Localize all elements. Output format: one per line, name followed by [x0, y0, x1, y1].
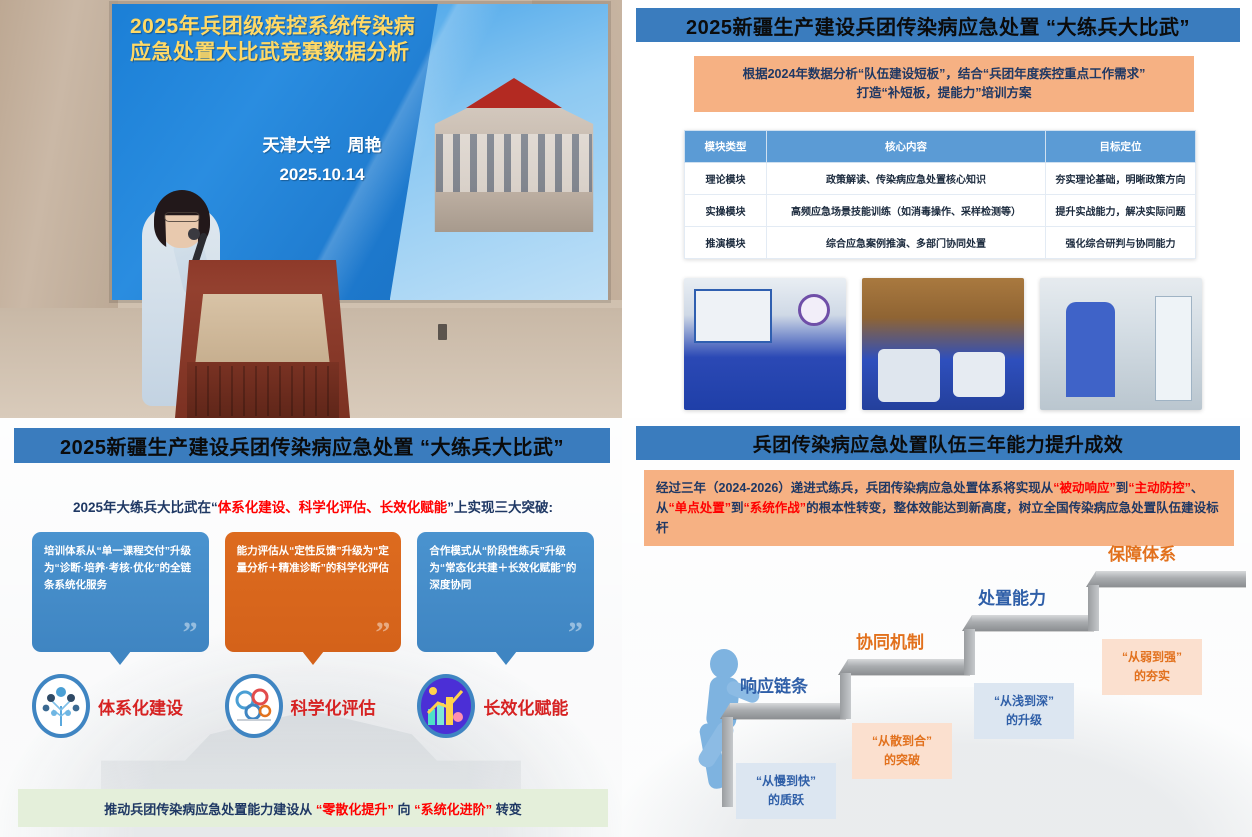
step-title-3: 处置能力	[978, 584, 1046, 609]
step-tag-line1: “从浅到深”	[984, 692, 1064, 711]
panel-three-year-outcomes: 兵团传染病应急处置队伍三年能力提升成效 经过三年（2024-2026）递进式练兵…	[622, 418, 1252, 837]
slide4-callout: 经过三年（2024-2026）递进式练兵，兵团传染病应急处置体系将实现从“被动响…	[644, 470, 1234, 546]
step-tag-1: “从慢到快” 的质跃	[736, 763, 836, 819]
step-riser-2	[840, 673, 851, 719]
table-row: 推演模块 综合应急案例推演、多部门协同处置 强化综合研判与协同能力	[685, 227, 1196, 259]
photo-written-exam	[862, 278, 1024, 410]
quote-mark-icon: ”	[183, 618, 198, 648]
table-cell: 实操模块	[685, 195, 767, 227]
table-cell: 推演模块	[685, 227, 767, 259]
step-tag-line2: 的升级	[984, 711, 1064, 730]
wall-socket	[438, 324, 447, 340]
slide3-footer-banner: 推动兵团传染病应急处置能力建设从 “零散化提升” 向 “系统化进阶” 转变	[18, 789, 608, 827]
table-cell: 夯实理论基础，明晰政策方向	[1046, 163, 1196, 195]
table-header-cell: 核心内容	[767, 131, 1046, 163]
training-modules-table: 模块类型 核心内容 目标定位 理论模块 政策解读、传染病应急处置核心知识 夯实理…	[684, 130, 1196, 259]
table-cell: 强化综合研判与协同能力	[1046, 227, 1196, 259]
step-title-4: 保障体系	[1108, 540, 1176, 565]
growth-chart-icon	[417, 674, 475, 738]
podium-slats	[195, 366, 331, 416]
card-pointer	[109, 651, 131, 665]
slide3-canvas: 2025新疆生产建设兵团传染病应急处置 “大练兵大比武” 2025年大练兵大比武…	[0, 418, 622, 837]
table-cell: 高频应急场景技能训练（如消毒操作、采样检测等）	[767, 195, 1046, 227]
slide3-banner-title: 2025新疆生产建设兵团传染病应急处置 “大练兵大比武”	[14, 428, 610, 463]
table-cell: 综合应急案例推演、多部门协同处置	[767, 227, 1046, 259]
gears-analysis-icon	[225, 674, 283, 738]
breakthrough-icon-row: 体系化建设 科学化评估	[32, 670, 594, 742]
step-riser-4	[1088, 585, 1099, 631]
breakthrough-icon-label: 长效化赋能	[483, 694, 568, 719]
walker-head	[710, 649, 738, 679]
quote-mark-icon: ”	[375, 618, 390, 648]
training-photo-strip	[684, 278, 1202, 410]
slide2-callout: 根据2024年数据分析“队伍建设短板”，结合“兵团年度疾控重点工作需求” 打造“…	[694, 56, 1194, 112]
step-tag-line1: “从慢到快”	[746, 772, 826, 791]
breakthrough-cards: 培训体系从“单一课程交付”升级为“诊断·培养·考核·优化”的全链条系统化服务 ”…	[32, 532, 594, 652]
slide2-canvas: 2025新疆生产建设兵团传染病应急处置 “大练兵大比武” 根据2024年数据分析…	[622, 0, 1252, 418]
panel-speaker-photo: 2025年兵团级疾控系统传染病 应急处置大比武竞赛数据分析 天津大学 周艳 20…	[0, 0, 622, 418]
table-header-cell: 模块类型	[685, 131, 767, 163]
step-tag-line2: 的质跃	[746, 791, 826, 810]
slide3-lead-text: 2025年大练兵大比武在“体系化建设、科学化评估、长效化赋能”上实现三大突破:	[24, 496, 602, 516]
step-tread-1	[730, 703, 846, 719]
table-header-row: 模块类型 核心内容 目标定位	[685, 131, 1196, 163]
slide4-canvas: 兵团传染病应急处置队伍三年能力提升成效 经过三年（2024-2026）递进式练兵…	[622, 418, 1252, 837]
podium-front-panel	[195, 294, 330, 366]
photo-lab-training	[1040, 278, 1202, 410]
step-riser-1	[722, 717, 733, 807]
step-tag-line1: “从散到合”	[862, 732, 942, 751]
table-cell: 提升实战能力，解决实际问题	[1046, 195, 1196, 227]
step-tag-line1: “从弱到强”	[1112, 648, 1192, 667]
screen-subtitle: 天津大学 周艳 2025.10.14	[182, 132, 462, 190]
card-pointer	[495, 651, 517, 665]
breakthrough-icon-item-1: 体系化建设	[32, 670, 209, 742]
step-tag-3: “从浅到深” 的升级	[974, 683, 1074, 739]
step-tag-4: “从弱到强” 的夯实	[1102, 639, 1202, 695]
slide2-banner-title: 2025新疆生产建设兵团传染病应急处置 “大练兵大比武”	[636, 8, 1240, 42]
card-pointer	[302, 651, 324, 665]
screen-affiliation: 天津大学 周艳	[182, 132, 462, 161]
card-text: 合作模式从“阶段性练兵”升级为“常态化共建＋长效化赋能”的深度协同	[429, 545, 576, 591]
speaker-glasses	[164, 212, 200, 222]
table-cell: 政策解读、传染病应急处置核心知识	[767, 163, 1046, 195]
slide4-banner-title: 兵团传染病应急处置队伍三年能力提升成效	[636, 426, 1240, 460]
screen-date: 2025.10.14	[182, 161, 462, 190]
step-tread-2	[848, 659, 970, 675]
table-header-cell: 目标定位	[1046, 131, 1196, 163]
breakthrough-icon-item-2: 科学化评估	[225, 670, 402, 742]
microphone-head	[188, 228, 200, 240]
card-text: 能力评估从“定性反馈”升级为“定量分析＋精准诊断”的科学化评估	[237, 545, 389, 574]
breakthrough-icon-item-3: 长效化赋能	[417, 670, 594, 742]
panel-three-breakthroughs: 2025新疆生产建设兵团传染病应急处置 “大练兵大比武” 2025年大练兵大比武…	[0, 418, 622, 837]
staircase-diagram: 响应链条 “从慢到快” 的质跃 协同机制 “从散到合” 的突破 处置能力	[622, 558, 1252, 837]
screen-title-line2: 应急处置大比武竞赛数据分析	[130, 40, 510, 66]
network-tree-icon	[32, 674, 90, 738]
table-row: 理论模块 政策解读、传染病应急处置核心知识 夯实理论基础，明晰政策方向	[685, 163, 1196, 195]
card-text: 培训体系从“单一课程交付”升级为“诊断·培养·考核·优化”的全链条系统化服务	[44, 545, 191, 591]
table-row: 实操模块 高频应急场景技能训练（如消毒操作、采样检测等） 提升实战能力，解决实际…	[685, 195, 1196, 227]
breakthrough-icon-label: 体系化建设	[98, 694, 183, 719]
screen-title: 2025年兵团级疾控系统传染病 应急处置大比武竞赛数据分析	[130, 14, 510, 65]
breakthrough-card-1: 培训体系从“单一课程交付”升级为“诊断·培养·考核·优化”的全链条系统化服务 ”	[32, 532, 209, 652]
screen-title-line1: 2025年兵团级疾控系统传染病	[130, 14, 510, 40]
step-riser-3	[964, 629, 975, 675]
step-tread-3	[972, 615, 1094, 631]
step-tag-line2: 的突破	[862, 751, 942, 770]
photo-classroom-lecture	[684, 278, 846, 410]
step-tag-line2: 的夯实	[1112, 667, 1192, 686]
step-tread-4	[1096, 571, 1246, 587]
breakthrough-icon-label: 科学化评估	[291, 694, 376, 719]
step-tag-2: “从散到合” 的突破	[852, 723, 952, 779]
panel-training-modules: 2025新疆生产建设兵团传染病应急处置 “大练兵大比武” 根据2024年数据分析…	[622, 0, 1252, 418]
quote-mark-icon: ”	[568, 618, 583, 648]
step-title-1: 响应链条	[740, 672, 808, 697]
breakthrough-card-3: 合作模式从“阶段性练兵”升级为“常态化共建＋长效化赋能”的深度协同 ”	[417, 532, 594, 652]
slide2-callout-line2: 打造“补短板，提能力”培训方案	[856, 84, 1031, 103]
slide-collage-grid: 2025年兵团级疾控系统传染病 应急处置大比武竞赛数据分析 天津大学 周艳 20…	[0, 0, 1252, 837]
slide2-callout-line1: 根据2024年数据分析“队伍建设短板”，结合“兵团年度疾控重点工作需求”	[743, 65, 1146, 84]
step-title-2: 协同机制	[856, 628, 924, 653]
table-cell: 理论模块	[685, 163, 767, 195]
breakthrough-card-2: 能力评估从“定性反馈”升级为“定量分析＋精准诊断”的科学化评估 ”	[225, 532, 402, 652]
